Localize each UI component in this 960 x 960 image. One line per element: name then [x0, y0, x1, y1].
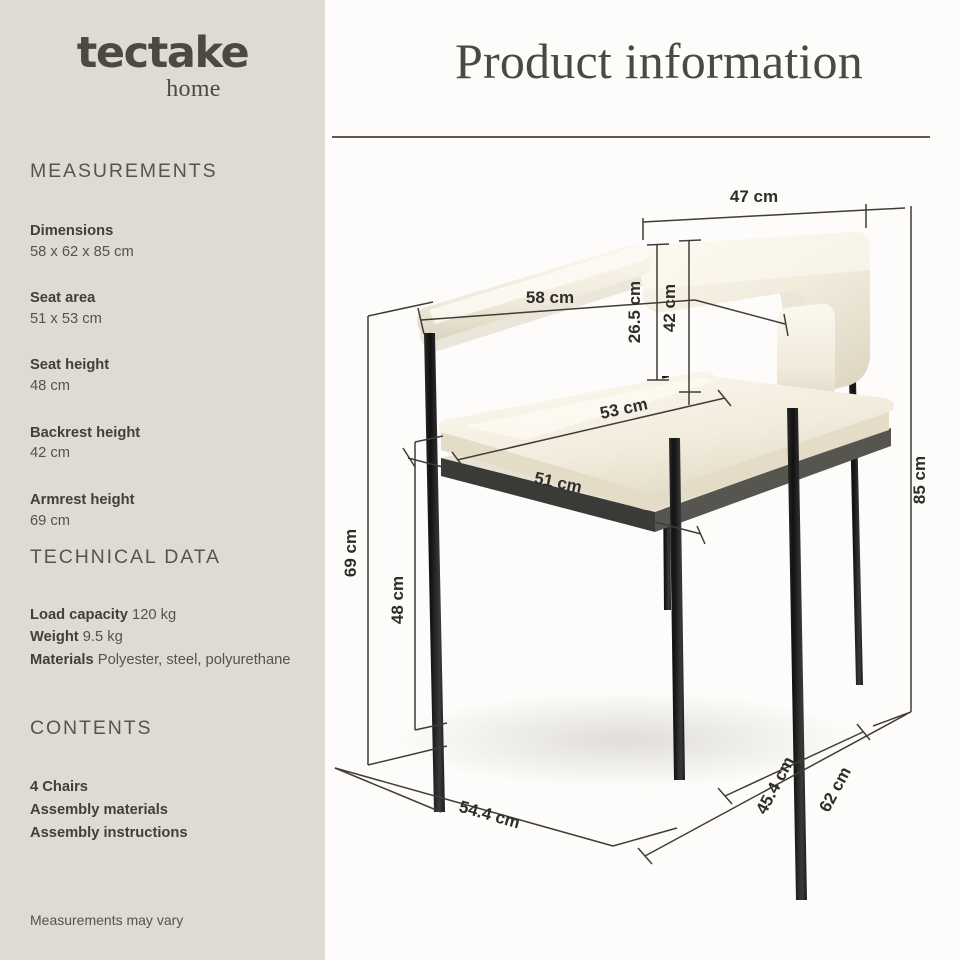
- product-diagram: 47 cm 26.5 cm 42 cm 58 cm 53 cm 51 cm 69…: [325, 140, 960, 960]
- contents-item: Assembly materials: [30, 799, 300, 822]
- page-title: Product information: [455, 36, 863, 86]
- spec-label: Armrest height: [30, 490, 300, 511]
- chair-leg-front-right: [787, 408, 807, 900]
- tech-value: 9.5 kg: [79, 629, 123, 645]
- contents-item: Assembly instructions: [30, 822, 300, 845]
- dim-label-42: 42 cm: [660, 284, 679, 332]
- brand-subtitle: home: [62, 77, 325, 101]
- dim-label-62: 62 cm: [815, 764, 854, 815]
- technical-data-heading: TECHNICAL DATA: [30, 546, 300, 569]
- spec-dimensions: Dimensions 58 x 62 x 85 cm: [30, 221, 300, 263]
- spec-seat-area: Seat area 51 x 53 cm: [30, 288, 300, 330]
- tech-value: 120 kg: [128, 607, 176, 623]
- measurements-section: MEASUREMENTS Dimensions 58 x 62 x 85 cm …: [30, 160, 300, 532]
- dim-label-48: 48 cm: [388, 576, 407, 624]
- product-information-sheet: tectake home MEASUREMENTS Dimensions 58 …: [0, 0, 960, 960]
- contents-section: CONTENTS 4 Chairs Assembly materials Ass…: [30, 717, 300, 844]
- spec-seat-height: Seat height 48 cm: [30, 355, 300, 397]
- spec-value: 51 x 53 cm: [30, 309, 300, 330]
- header-divider: [332, 136, 930, 138]
- sidebar: tectake home MEASUREMENTS Dimensions 58 …: [0, 0, 325, 960]
- dim-line-85: [873, 206, 911, 726]
- contents-item: 4 Chairs: [30, 776, 300, 799]
- spec-label: Seat height: [30, 355, 300, 376]
- spec-value: 69 cm: [30, 511, 300, 532]
- technical-data-section: TECHNICAL DATA Load capacity 120 kg Weig…: [30, 546, 300, 671]
- dim-label-58: 58 cm: [526, 288, 574, 307]
- spec-label: Backrest height: [30, 423, 300, 444]
- tech-materials: Materials Polyester, steel, polyurethane: [30, 649, 300, 671]
- dim-label-85: 85 cm: [910, 456, 929, 504]
- spec-armrest-height: Armrest height 69 cm: [30, 490, 300, 532]
- brand-logo: tectake home: [0, 32, 325, 101]
- contents-heading: CONTENTS: [30, 717, 300, 740]
- spec-label: Dimensions: [30, 221, 300, 242]
- dim-label-26-5: 26.5 cm: [625, 281, 644, 343]
- brand-name: tectake: [0, 32, 325, 75]
- tech-value: Polyester, steel, polyurethane: [94, 652, 291, 668]
- measurements-heading: MEASUREMENTS: [30, 160, 300, 183]
- tech-load-capacity: Load capacity 120 kg: [30, 604, 300, 626]
- dim-label-69: 69 cm: [341, 529, 360, 577]
- spec-value: 58 x 62 x 85 cm: [30, 242, 300, 263]
- tech-weight: Weight 9.5 kg: [30, 626, 300, 648]
- tech-label: Materials: [30, 652, 94, 668]
- spec-label: Seat area: [30, 288, 300, 309]
- dim-label-47: 47 cm: [730, 187, 778, 206]
- tech-label: Weight: [30, 629, 79, 645]
- spec-value: 48 cm: [30, 376, 300, 397]
- dim-label-54-4: 54.4 cm: [457, 797, 522, 832]
- spec-backrest-height: Backrest height 42 cm: [30, 423, 300, 465]
- footnote: Measurements may vary: [30, 912, 183, 928]
- tech-label: Load capacity: [30, 607, 128, 623]
- spec-value: 42 cm: [30, 443, 300, 464]
- ext-line-top-right: [866, 208, 905, 210]
